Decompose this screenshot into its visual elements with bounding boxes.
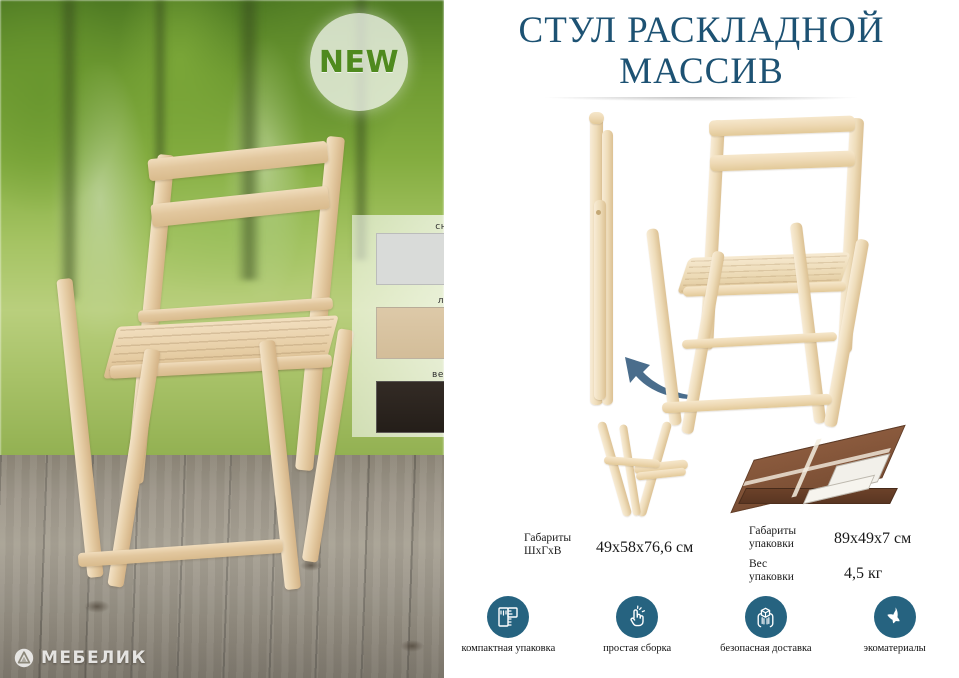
chair-front-leg-left [56, 278, 103, 578]
product-infographic: NEW МЕБЕЛИК снег лак венге СТУЛ [0, 0, 959, 678]
feature-label: компактная упаковка [444, 643, 573, 654]
feature-safe-delivery[interactable]: безопасная доставка [702, 596, 831, 674]
dimensions-block: Габариты ШхГхВ 49x58x76,6 см Габариты уп… [444, 420, 959, 590]
folded-top-cap [589, 112, 604, 124]
title-divider [484, 97, 919, 106]
package-size-label-line2: упаковки [749, 538, 796, 551]
product-dimension-label-line2: ШхГхВ [524, 545, 571, 558]
leaves-icon [883, 605, 907, 629]
package-size-value: 89x49x7 см [834, 530, 911, 548]
product-dimension-row: Габариты ШхГхВ [524, 532, 571, 558]
feature-compact-package[interactable]: компактная упаковка [444, 596, 573, 674]
new-badge-label: NEW [319, 45, 399, 80]
feature-label: безопасная доставка [702, 643, 831, 654]
folded-post-c [594, 200, 606, 400]
feature-icon-circle [616, 596, 658, 638]
deck-knot [84, 600, 110, 613]
feature-eco-materials[interactable]: экоматериалы [830, 596, 959, 674]
logo-text: МЕБЕЛИК [41, 648, 147, 668]
deck-knot [400, 640, 424, 652]
folded-pivot-screw [596, 210, 601, 215]
title-line-1: СТУЛ РАСКЛАДНОЙ [444, 10, 959, 51]
chair-illustrations [444, 110, 959, 410]
feature-easy-assembly[interactable]: простая сборка [573, 596, 702, 674]
product-dimension-label-line1: Габариты [524, 532, 571, 545]
mebelik-mark-icon [14, 648, 34, 668]
fold-arrow-icon [619, 353, 694, 401]
chair-back-top-rail [147, 141, 328, 182]
feature-label: экоматериалы [830, 643, 959, 654]
package-size-row: Габариты упаковки [749, 525, 796, 551]
ruler-icon [496, 605, 520, 629]
page-title: СТУЛ РАСКЛАДНОЙ МАССИВ [444, 10, 959, 92]
package-size-label-line1: Габариты [749, 525, 796, 538]
chair-back-second-rail [150, 186, 329, 227]
product-dimension-value: 49x58x76,6 см [596, 539, 693, 557]
hands-box-icon [753, 605, 778, 630]
package-weight-label-line1: Вес [749, 558, 794, 571]
open-back-top-rail [709, 115, 855, 136]
info-panel: СТУЛ РАСКЛАДНОЙ МАССИВ [444, 0, 959, 678]
brand-logo: МЕБЕЛИК [14, 648, 147, 668]
title-line-2: МАССИВ [444, 51, 959, 92]
feature-icon-circle [487, 596, 529, 638]
open-back-second-rail [710, 150, 855, 171]
package-weight-row: Вес упаковки [749, 558, 794, 584]
feature-icon-circle [874, 596, 916, 638]
feature-label: простая сборка [573, 643, 702, 654]
package-weight-label-line2: упаковки [749, 571, 794, 584]
main-chair-photo [20, 128, 380, 598]
package-weight-value: 4,5 кг [844, 565, 882, 583]
hand-click-icon [625, 605, 649, 629]
new-badge: NEW [310, 13, 408, 111]
chair-lower-stretcher [78, 539, 283, 567]
features-row: компактная упаковка простая сборка [444, 596, 959, 674]
feature-icon-circle [745, 596, 787, 638]
